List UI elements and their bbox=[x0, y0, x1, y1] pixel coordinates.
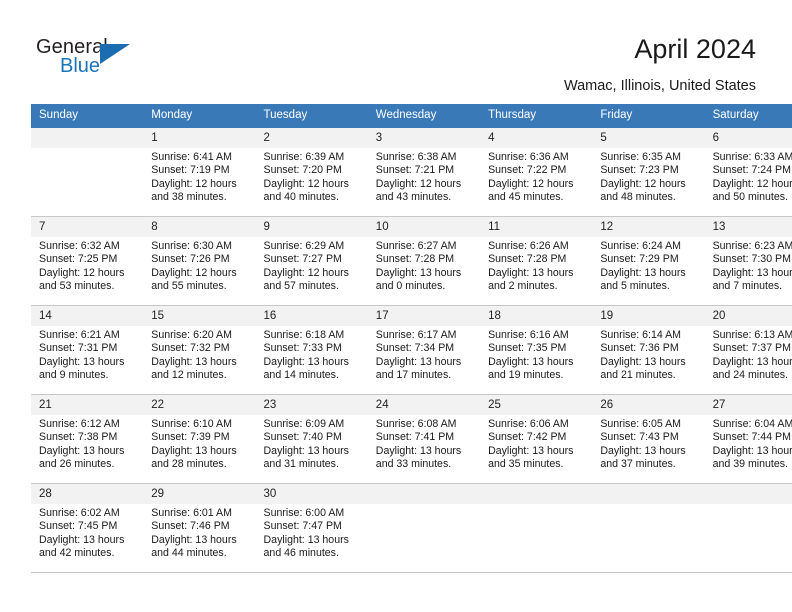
day-number: 3 bbox=[368, 128, 480, 148]
sunset-text: Sunset: 7:44 PM bbox=[713, 431, 792, 444]
day-number: 19 bbox=[592, 306, 704, 326]
calendar-day-cell[interactable]: 8Sunrise: 6:30 AMSunset: 7:26 PMDaylight… bbox=[143, 217, 255, 306]
daylight-text: Daylight: 12 hours and 57 minutes. bbox=[264, 267, 362, 294]
sunset-text: Sunset: 7:34 PM bbox=[376, 342, 474, 355]
calendar-day-cell[interactable]: 3Sunrise: 6:38 AMSunset: 7:21 PMDaylight… bbox=[368, 128, 480, 217]
day-cell-content: 12Sunrise: 6:24 AMSunset: 7:29 PMDayligh… bbox=[592, 217, 704, 305]
day-cell-content: 9Sunrise: 6:29 AMSunset: 7:27 PMDaylight… bbox=[256, 217, 368, 305]
day-number: 11 bbox=[480, 217, 592, 237]
day-sun-info bbox=[592, 504, 704, 507]
day-sun-info: Sunrise: 6:35 AMSunset: 7:23 PMDaylight:… bbox=[592, 148, 704, 205]
day-cell-content: 28Sunrise: 6:02 AMSunset: 7:45 PMDayligh… bbox=[31, 484, 143, 572]
day-cell-content: 2Sunrise: 6:39 AMSunset: 7:20 PMDaylight… bbox=[256, 128, 368, 216]
page-header: General Blue April 2024 Wamac, Illinois,… bbox=[0, 0, 792, 100]
day-number: 21 bbox=[31, 395, 143, 415]
weekday-header-monday: Monday bbox=[143, 104, 255, 128]
day-sun-info: Sunrise: 6:39 AMSunset: 7:20 PMDaylight:… bbox=[256, 148, 368, 205]
calendar-day-cell[interactable]: 23Sunrise: 6:09 AMSunset: 7:40 PMDayligh… bbox=[256, 395, 368, 484]
weekday-header-saturday: Saturday bbox=[705, 104, 792, 128]
day-cell-content: 6Sunrise: 6:33 AMSunset: 7:24 PMDaylight… bbox=[705, 128, 792, 216]
day-cell-content: 22Sunrise: 6:10 AMSunset: 7:39 PMDayligh… bbox=[143, 395, 255, 483]
daylight-text: Daylight: 13 hours and 21 minutes. bbox=[600, 356, 698, 383]
day-number: 28 bbox=[31, 484, 143, 504]
page-title: April 2024 bbox=[634, 33, 756, 65]
daylight-text: Daylight: 13 hours and 0 minutes. bbox=[376, 267, 474, 294]
day-number: 18 bbox=[480, 306, 592, 326]
day-cell-content: 11Sunrise: 6:26 AMSunset: 7:28 PMDayligh… bbox=[480, 217, 592, 305]
daylight-text: Daylight: 12 hours and 53 minutes. bbox=[39, 267, 137, 294]
day-sun-info: Sunrise: 6:33 AMSunset: 7:24 PMDaylight:… bbox=[705, 148, 792, 205]
day-number: 5 bbox=[592, 128, 704, 148]
daylight-text: Daylight: 13 hours and 17 minutes. bbox=[376, 356, 474, 383]
sunrise-text: Sunrise: 6:02 AM bbox=[39, 507, 137, 520]
sunset-text: Sunset: 7:23 PM bbox=[600, 164, 698, 177]
sunrise-text: Sunrise: 6:12 AM bbox=[39, 418, 137, 431]
day-cell-content: 21Sunrise: 6:12 AMSunset: 7:38 PMDayligh… bbox=[31, 395, 143, 483]
sunset-text: Sunset: 7:43 PM bbox=[600, 431, 698, 444]
daylight-text: Daylight: 12 hours and 43 minutes. bbox=[376, 178, 474, 205]
day-number: 24 bbox=[368, 395, 480, 415]
day-sun-info: Sunrise: 6:30 AMSunset: 7:26 PMDaylight:… bbox=[143, 237, 255, 294]
calendar-day-cell[interactable]: 24Sunrise: 6:08 AMSunset: 7:41 PMDayligh… bbox=[368, 395, 480, 484]
day-cell-content: 23Sunrise: 6:09 AMSunset: 7:40 PMDayligh… bbox=[256, 395, 368, 483]
day-sun-info: Sunrise: 6:06 AMSunset: 7:42 PMDaylight:… bbox=[480, 415, 592, 472]
day-number bbox=[31, 128, 143, 148]
day-sun-info: Sunrise: 6:00 AMSunset: 7:47 PMDaylight:… bbox=[256, 504, 368, 561]
sunrise-text: Sunrise: 6:13 AM bbox=[713, 329, 792, 342]
daylight-text: Daylight: 12 hours and 38 minutes. bbox=[151, 178, 249, 205]
calendar-day-cell[interactable]: 14Sunrise: 6:21 AMSunset: 7:31 PMDayligh… bbox=[31, 306, 143, 395]
sunrise-text: Sunrise: 6:17 AM bbox=[376, 329, 474, 342]
day-number: 9 bbox=[256, 217, 368, 237]
calendar-day-cell[interactable]: 26Sunrise: 6:05 AMSunset: 7:43 PMDayligh… bbox=[592, 395, 704, 484]
day-cell-content: 26Sunrise: 6:05 AMSunset: 7:43 PMDayligh… bbox=[592, 395, 704, 483]
day-cell-content bbox=[705, 484, 792, 572]
sunrise-text: Sunrise: 6:05 AM bbox=[600, 418, 698, 431]
day-sun-info: Sunrise: 6:24 AMSunset: 7:29 PMDaylight:… bbox=[592, 237, 704, 294]
sunset-text: Sunset: 7:37 PM bbox=[713, 342, 792, 355]
day-number: 8 bbox=[143, 217, 255, 237]
day-number: 10 bbox=[368, 217, 480, 237]
sunrise-text: Sunrise: 6:26 AM bbox=[488, 240, 586, 253]
day-cell-content bbox=[480, 484, 592, 572]
sunset-text: Sunset: 7:33 PM bbox=[264, 342, 362, 355]
day-cell-content: 1Sunrise: 6:41 AMSunset: 7:19 PMDaylight… bbox=[143, 128, 255, 216]
day-number bbox=[480, 484, 592, 504]
day-number: 26 bbox=[592, 395, 704, 415]
calendar-day-cell[interactable]: 29Sunrise: 6:01 AMSunset: 7:46 PMDayligh… bbox=[143, 484, 255, 573]
calendar-day-cell[interactable]: 6Sunrise: 6:33 AMSunset: 7:24 PMDaylight… bbox=[705, 128, 792, 217]
daylight-text: Daylight: 13 hours and 7 minutes. bbox=[713, 267, 792, 294]
daylight-text: Daylight: 12 hours and 50 minutes. bbox=[713, 178, 792, 205]
daylight-text: Daylight: 13 hours and 46 minutes. bbox=[264, 534, 362, 561]
daylight-text: Daylight: 13 hours and 5 minutes. bbox=[600, 267, 698, 294]
day-number: 20 bbox=[705, 306, 792, 326]
day-sun-info: Sunrise: 6:12 AMSunset: 7:38 PMDaylight:… bbox=[31, 415, 143, 472]
daylight-text: Daylight: 13 hours and 24 minutes. bbox=[713, 356, 792, 383]
sunrise-text: Sunrise: 6:20 AM bbox=[151, 329, 249, 342]
daylight-text: Daylight: 13 hours and 37 minutes. bbox=[600, 445, 698, 472]
weekday-header-wednesday: Wednesday bbox=[368, 104, 480, 128]
sunrise-text: Sunrise: 6:18 AM bbox=[264, 329, 362, 342]
day-cell-content bbox=[31, 128, 143, 216]
sunset-text: Sunset: 7:42 PM bbox=[488, 431, 586, 444]
day-sun-info: Sunrise: 6:38 AMSunset: 7:21 PMDaylight:… bbox=[368, 148, 480, 205]
weekday-header-thursday: Thursday bbox=[480, 104, 592, 128]
sunrise-text: Sunrise: 6:36 AM bbox=[488, 151, 586, 164]
weekday-header-friday: Friday bbox=[592, 104, 704, 128]
day-sun-info: Sunrise: 6:18 AMSunset: 7:33 PMDaylight:… bbox=[256, 326, 368, 383]
location-subtitle: Wamac, Illinois, United States bbox=[564, 77, 756, 95]
day-cell-content bbox=[592, 484, 704, 572]
sunrise-text: Sunrise: 6:23 AM bbox=[713, 240, 792, 253]
daylight-text: Daylight: 13 hours and 42 minutes. bbox=[39, 534, 137, 561]
daylight-text: Daylight: 12 hours and 48 minutes. bbox=[600, 178, 698, 205]
day-cell-content: 19Sunrise: 6:14 AMSunset: 7:36 PMDayligh… bbox=[592, 306, 704, 394]
calendar-day-cell[interactable]: 9Sunrise: 6:29 AMSunset: 7:27 PMDaylight… bbox=[256, 217, 368, 306]
day-sun-info: Sunrise: 6:20 AMSunset: 7:32 PMDaylight:… bbox=[143, 326, 255, 383]
daylight-text: Daylight: 12 hours and 40 minutes. bbox=[264, 178, 362, 205]
calendar-day-cell[interactable]: 4Sunrise: 6:36 AMSunset: 7:22 PMDaylight… bbox=[480, 128, 592, 217]
daylight-text: Daylight: 13 hours and 44 minutes. bbox=[151, 534, 249, 561]
day-cell-content: 14Sunrise: 6:21 AMSunset: 7:31 PMDayligh… bbox=[31, 306, 143, 394]
sunrise-text: Sunrise: 6:24 AM bbox=[600, 240, 698, 253]
sunrise-text: Sunrise: 6:41 AM bbox=[151, 151, 249, 164]
day-sun-info: Sunrise: 6:09 AMSunset: 7:40 PMDaylight:… bbox=[256, 415, 368, 472]
sunset-text: Sunset: 7:28 PM bbox=[488, 253, 586, 266]
sunset-text: Sunset: 7:41 PM bbox=[376, 431, 474, 444]
calendar-day-cell[interactable]: 27Sunrise: 6:04 AMSunset: 7:44 PMDayligh… bbox=[705, 395, 792, 484]
day-number: 29 bbox=[143, 484, 255, 504]
sunrise-text: Sunrise: 6:29 AM bbox=[264, 240, 362, 253]
sunrise-text: Sunrise: 6:14 AM bbox=[600, 329, 698, 342]
daylight-text: Daylight: 12 hours and 55 minutes. bbox=[151, 267, 249, 294]
day-sun-info: Sunrise: 6:08 AMSunset: 7:41 PMDaylight:… bbox=[368, 415, 480, 472]
daylight-text: Daylight: 13 hours and 39 minutes. bbox=[713, 445, 792, 472]
calendar-day-cell[interactable]: 19Sunrise: 6:14 AMSunset: 7:36 PMDayligh… bbox=[592, 306, 704, 395]
calendar-empty-cell bbox=[368, 484, 480, 573]
sunrise-text: Sunrise: 6:10 AM bbox=[151, 418, 249, 431]
day-number: 7 bbox=[31, 217, 143, 237]
day-sun-info: Sunrise: 6:23 AMSunset: 7:30 PMDaylight:… bbox=[705, 237, 792, 294]
sunrise-text: Sunrise: 6:01 AM bbox=[151, 507, 249, 520]
calendar-day-cell[interactable]: 11Sunrise: 6:26 AMSunset: 7:28 PMDayligh… bbox=[480, 217, 592, 306]
calendar-day-cell[interactable]: 25Sunrise: 6:06 AMSunset: 7:42 PMDayligh… bbox=[480, 395, 592, 484]
calendar-empty-cell bbox=[31, 128, 143, 217]
day-number: 17 bbox=[368, 306, 480, 326]
sunset-text: Sunset: 7:20 PM bbox=[264, 164, 362, 177]
day-sun-info bbox=[480, 504, 592, 507]
day-sun-info: Sunrise: 6:36 AMSunset: 7:22 PMDaylight:… bbox=[480, 148, 592, 205]
day-cell-content: 30Sunrise: 6:00 AMSunset: 7:47 PMDayligh… bbox=[256, 484, 368, 572]
sunset-text: Sunset: 7:27 PM bbox=[264, 253, 362, 266]
day-cell-content: 10Sunrise: 6:27 AMSunset: 7:28 PMDayligh… bbox=[368, 217, 480, 305]
day-cell-content: 25Sunrise: 6:06 AMSunset: 7:42 PMDayligh… bbox=[480, 395, 592, 483]
day-sun-info: Sunrise: 6:10 AMSunset: 7:39 PMDaylight:… bbox=[143, 415, 255, 472]
day-sun-info: Sunrise: 6:21 AMSunset: 7:31 PMDaylight:… bbox=[31, 326, 143, 383]
sunset-text: Sunset: 7:21 PM bbox=[376, 164, 474, 177]
day-sun-info: Sunrise: 6:04 AMSunset: 7:44 PMDaylight:… bbox=[705, 415, 792, 472]
daylight-text: Daylight: 13 hours and 2 minutes. bbox=[488, 267, 586, 294]
sunset-text: Sunset: 7:45 PM bbox=[39, 520, 137, 533]
weekday-header-sunday: Sunday bbox=[31, 104, 143, 128]
sunrise-text: Sunrise: 6:00 AM bbox=[264, 507, 362, 520]
day-cell-content: 29Sunrise: 6:01 AMSunset: 7:46 PMDayligh… bbox=[143, 484, 255, 572]
calendar-day-cell[interactable]: 2Sunrise: 6:39 AMSunset: 7:20 PMDaylight… bbox=[256, 128, 368, 217]
day-number: 25 bbox=[480, 395, 592, 415]
day-sun-info: Sunrise: 6:13 AMSunset: 7:37 PMDaylight:… bbox=[705, 326, 792, 383]
day-cell-content: 16Sunrise: 6:18 AMSunset: 7:33 PMDayligh… bbox=[256, 306, 368, 394]
day-cell-content: 15Sunrise: 6:20 AMSunset: 7:32 PMDayligh… bbox=[143, 306, 255, 394]
sunset-text: Sunset: 7:38 PM bbox=[39, 431, 137, 444]
calendar-day-cell[interactable]: 12Sunrise: 6:24 AMSunset: 7:29 PMDayligh… bbox=[592, 217, 704, 306]
calendar-day-cell[interactable]: 7Sunrise: 6:32 AMSunset: 7:25 PMDaylight… bbox=[31, 217, 143, 306]
daylight-text: Daylight: 13 hours and 31 minutes. bbox=[264, 445, 362, 472]
daylight-text: Daylight: 13 hours and 33 minutes. bbox=[376, 445, 474, 472]
sunrise-text: Sunrise: 6:16 AM bbox=[488, 329, 586, 342]
daylight-text: Daylight: 13 hours and 28 minutes. bbox=[151, 445, 249, 472]
day-cell-content: 20Sunrise: 6:13 AMSunset: 7:37 PMDayligh… bbox=[705, 306, 792, 394]
day-number: 6 bbox=[705, 128, 792, 148]
sunset-text: Sunset: 7:31 PM bbox=[39, 342, 137, 355]
day-sun-info: Sunrise: 6:29 AMSunset: 7:27 PMDaylight:… bbox=[256, 237, 368, 294]
sunrise-text: Sunrise: 6:35 AM bbox=[600, 151, 698, 164]
day-sun-info: Sunrise: 6:26 AMSunset: 7:28 PMDaylight:… bbox=[480, 237, 592, 294]
sunset-text: Sunset: 7:47 PM bbox=[264, 520, 362, 533]
day-cell-content: 7Sunrise: 6:32 AMSunset: 7:25 PMDaylight… bbox=[31, 217, 143, 305]
sunset-text: Sunset: 7:32 PM bbox=[151, 342, 249, 355]
day-sun-info bbox=[31, 148, 143, 151]
calendar-body: 1Sunrise: 6:41 AMSunset: 7:19 PMDaylight… bbox=[31, 128, 792, 573]
calendar-day-cell[interactable]: 21Sunrise: 6:12 AMSunset: 7:38 PMDayligh… bbox=[31, 395, 143, 484]
day-number: 22 bbox=[143, 395, 255, 415]
calendar-day-cell[interactable]: 30Sunrise: 6:00 AMSunset: 7:47 PMDayligh… bbox=[256, 484, 368, 573]
calendar-day-cell[interactable]: 1Sunrise: 6:41 AMSunset: 7:19 PMDaylight… bbox=[143, 128, 255, 217]
daylight-text: Daylight: 12 hours and 45 minutes. bbox=[488, 178, 586, 205]
day-cell-content: 5Sunrise: 6:35 AMSunset: 7:23 PMDaylight… bbox=[592, 128, 704, 216]
day-sun-info bbox=[705, 504, 792, 507]
day-sun-info: Sunrise: 6:32 AMSunset: 7:25 PMDaylight:… bbox=[31, 237, 143, 294]
calendar-day-cell[interactable]: 20Sunrise: 6:13 AMSunset: 7:37 PMDayligh… bbox=[705, 306, 792, 395]
day-number: 14 bbox=[31, 306, 143, 326]
weekday-header-row: Sunday Monday Tuesday Wednesday Thursday… bbox=[31, 104, 792, 128]
sunset-text: Sunset: 7:25 PM bbox=[39, 253, 137, 266]
day-sun-info: Sunrise: 6:16 AMSunset: 7:35 PMDaylight:… bbox=[480, 326, 592, 383]
sunset-text: Sunset: 7:40 PM bbox=[264, 431, 362, 444]
calendar-empty-cell bbox=[480, 484, 592, 573]
day-sun-info: Sunrise: 6:02 AMSunset: 7:45 PMDaylight:… bbox=[31, 504, 143, 561]
sunrise-text: Sunrise: 6:27 AM bbox=[376, 240, 474, 253]
calendar-page: General Blue April 2024 Wamac, Illinois,… bbox=[0, 0, 792, 612]
calendar-day-cell[interactable]: 13Sunrise: 6:23 AMSunset: 7:30 PMDayligh… bbox=[705, 217, 792, 306]
general-blue-logo[interactable]: General Blue bbox=[36, 36, 146, 82]
calendar-day-cell[interactable]: 15Sunrise: 6:20 AMSunset: 7:32 PMDayligh… bbox=[143, 306, 255, 395]
day-sun-info: Sunrise: 6:41 AMSunset: 7:19 PMDaylight:… bbox=[143, 148, 255, 205]
day-cell-content: 13Sunrise: 6:23 AMSunset: 7:30 PMDayligh… bbox=[705, 217, 792, 305]
logo-text-blue: Blue bbox=[60, 55, 100, 77]
sunrise-text: Sunrise: 6:32 AM bbox=[39, 240, 137, 253]
sunset-text: Sunset: 7:30 PM bbox=[713, 253, 792, 266]
daylight-text: Daylight: 13 hours and 12 minutes. bbox=[151, 356, 249, 383]
calendar-day-cell[interactable]: 17Sunrise: 6:17 AMSunset: 7:34 PMDayligh… bbox=[368, 306, 480, 395]
day-cell-content: 8Sunrise: 6:30 AMSunset: 7:26 PMDaylight… bbox=[143, 217, 255, 305]
day-number: 15 bbox=[143, 306, 255, 326]
calendar-week-row: 1Sunrise: 6:41 AMSunset: 7:19 PMDaylight… bbox=[31, 128, 792, 217]
daylight-text: Daylight: 13 hours and 19 minutes. bbox=[488, 356, 586, 383]
sunset-text: Sunset: 7:36 PM bbox=[600, 342, 698, 355]
calendar-day-cell[interactable]: 28Sunrise: 6:02 AMSunset: 7:45 PMDayligh… bbox=[31, 484, 143, 573]
weekday-header-tuesday: Tuesday bbox=[256, 104, 368, 128]
day-sun-info bbox=[368, 504, 480, 507]
calendar-empty-cell bbox=[592, 484, 704, 573]
daylight-text: Daylight: 13 hours and 35 minutes. bbox=[488, 445, 586, 472]
sunset-text: Sunset: 7:24 PM bbox=[713, 164, 792, 177]
sunrise-text: Sunrise: 6:21 AM bbox=[39, 329, 137, 342]
day-cell-content: 3Sunrise: 6:38 AMSunset: 7:21 PMDaylight… bbox=[368, 128, 480, 216]
day-sun-info: Sunrise: 6:14 AMSunset: 7:36 PMDaylight:… bbox=[592, 326, 704, 383]
sunset-text: Sunset: 7:46 PM bbox=[151, 520, 249, 533]
sunset-text: Sunset: 7:22 PM bbox=[488, 164, 586, 177]
day-cell-content: 17Sunrise: 6:17 AMSunset: 7:34 PMDayligh… bbox=[368, 306, 480, 394]
sunrise-text: Sunrise: 6:30 AM bbox=[151, 240, 249, 253]
day-number: 13 bbox=[705, 217, 792, 237]
day-number: 30 bbox=[256, 484, 368, 504]
daylight-text: Daylight: 13 hours and 14 minutes. bbox=[264, 356, 362, 383]
calendar-day-cell[interactable]: 22Sunrise: 6:10 AMSunset: 7:39 PMDayligh… bbox=[143, 395, 255, 484]
day-number: 23 bbox=[256, 395, 368, 415]
sunset-text: Sunset: 7:39 PM bbox=[151, 431, 249, 444]
day-number bbox=[368, 484, 480, 504]
calendar-day-cell[interactable]: 16Sunrise: 6:18 AMSunset: 7:33 PMDayligh… bbox=[256, 306, 368, 395]
calendar-week-row: 21Sunrise: 6:12 AMSunset: 7:38 PMDayligh… bbox=[31, 395, 792, 484]
sunset-text: Sunset: 7:26 PM bbox=[151, 253, 249, 266]
calendar-week-row: 14Sunrise: 6:21 AMSunset: 7:31 PMDayligh… bbox=[31, 306, 792, 395]
day-sun-info: Sunrise: 6:05 AMSunset: 7:43 PMDaylight:… bbox=[592, 415, 704, 472]
calendar-day-cell[interactable]: 5Sunrise: 6:35 AMSunset: 7:23 PMDaylight… bbox=[592, 128, 704, 217]
logo-triangle-icon bbox=[100, 44, 130, 64]
sunrise-text: Sunrise: 6:04 AM bbox=[713, 418, 792, 431]
sunset-text: Sunset: 7:28 PM bbox=[376, 253, 474, 266]
sunset-text: Sunset: 7:29 PM bbox=[600, 253, 698, 266]
day-cell-content bbox=[368, 484, 480, 572]
sunset-text: Sunset: 7:19 PM bbox=[151, 164, 249, 177]
calendar-week-row: 7Sunrise: 6:32 AMSunset: 7:25 PMDaylight… bbox=[31, 217, 792, 306]
day-number: 12 bbox=[592, 217, 704, 237]
day-number: 1 bbox=[143, 128, 255, 148]
sunrise-text: Sunrise: 6:39 AM bbox=[264, 151, 362, 164]
calendar-empty-cell bbox=[705, 484, 792, 573]
day-number: 4 bbox=[480, 128, 592, 148]
day-cell-content: 24Sunrise: 6:08 AMSunset: 7:41 PMDayligh… bbox=[368, 395, 480, 483]
day-cell-content: 27Sunrise: 6:04 AMSunset: 7:44 PMDayligh… bbox=[705, 395, 792, 483]
day-sun-info: Sunrise: 6:27 AMSunset: 7:28 PMDaylight:… bbox=[368, 237, 480, 294]
calendar-day-cell[interactable]: 10Sunrise: 6:27 AMSunset: 7:28 PMDayligh… bbox=[368, 217, 480, 306]
day-number bbox=[592, 484, 704, 504]
sunrise-text: Sunrise: 6:33 AM bbox=[713, 151, 792, 164]
sunset-text: Sunset: 7:35 PM bbox=[488, 342, 586, 355]
sunrise-text: Sunrise: 6:38 AM bbox=[376, 151, 474, 164]
day-number: 16 bbox=[256, 306, 368, 326]
day-sun-info: Sunrise: 6:17 AMSunset: 7:34 PMDaylight:… bbox=[368, 326, 480, 383]
day-number bbox=[705, 484, 792, 504]
day-number: 27 bbox=[705, 395, 792, 415]
sunrise-text: Sunrise: 6:09 AM bbox=[264, 418, 362, 431]
sunrise-text: Sunrise: 6:06 AM bbox=[488, 418, 586, 431]
sunrise-text: Sunrise: 6:08 AM bbox=[376, 418, 474, 431]
day-cell-content: 4Sunrise: 6:36 AMSunset: 7:22 PMDaylight… bbox=[480, 128, 592, 216]
day-sun-info: Sunrise: 6:01 AMSunset: 7:46 PMDaylight:… bbox=[143, 504, 255, 561]
day-number: 2 bbox=[256, 128, 368, 148]
calendar-day-cell[interactable]: 18Sunrise: 6:16 AMSunset: 7:35 PMDayligh… bbox=[480, 306, 592, 395]
sunrise-sunset-calendar: Sunday Monday Tuesday Wednesday Thursday… bbox=[31, 104, 792, 573]
calendar-week-row: 28Sunrise: 6:02 AMSunset: 7:45 PMDayligh… bbox=[31, 484, 792, 573]
daylight-text: Daylight: 13 hours and 9 minutes. bbox=[39, 356, 137, 383]
day-cell-content: 18Sunrise: 6:16 AMSunset: 7:35 PMDayligh… bbox=[480, 306, 592, 394]
daylight-text: Daylight: 13 hours and 26 minutes. bbox=[39, 445, 137, 472]
